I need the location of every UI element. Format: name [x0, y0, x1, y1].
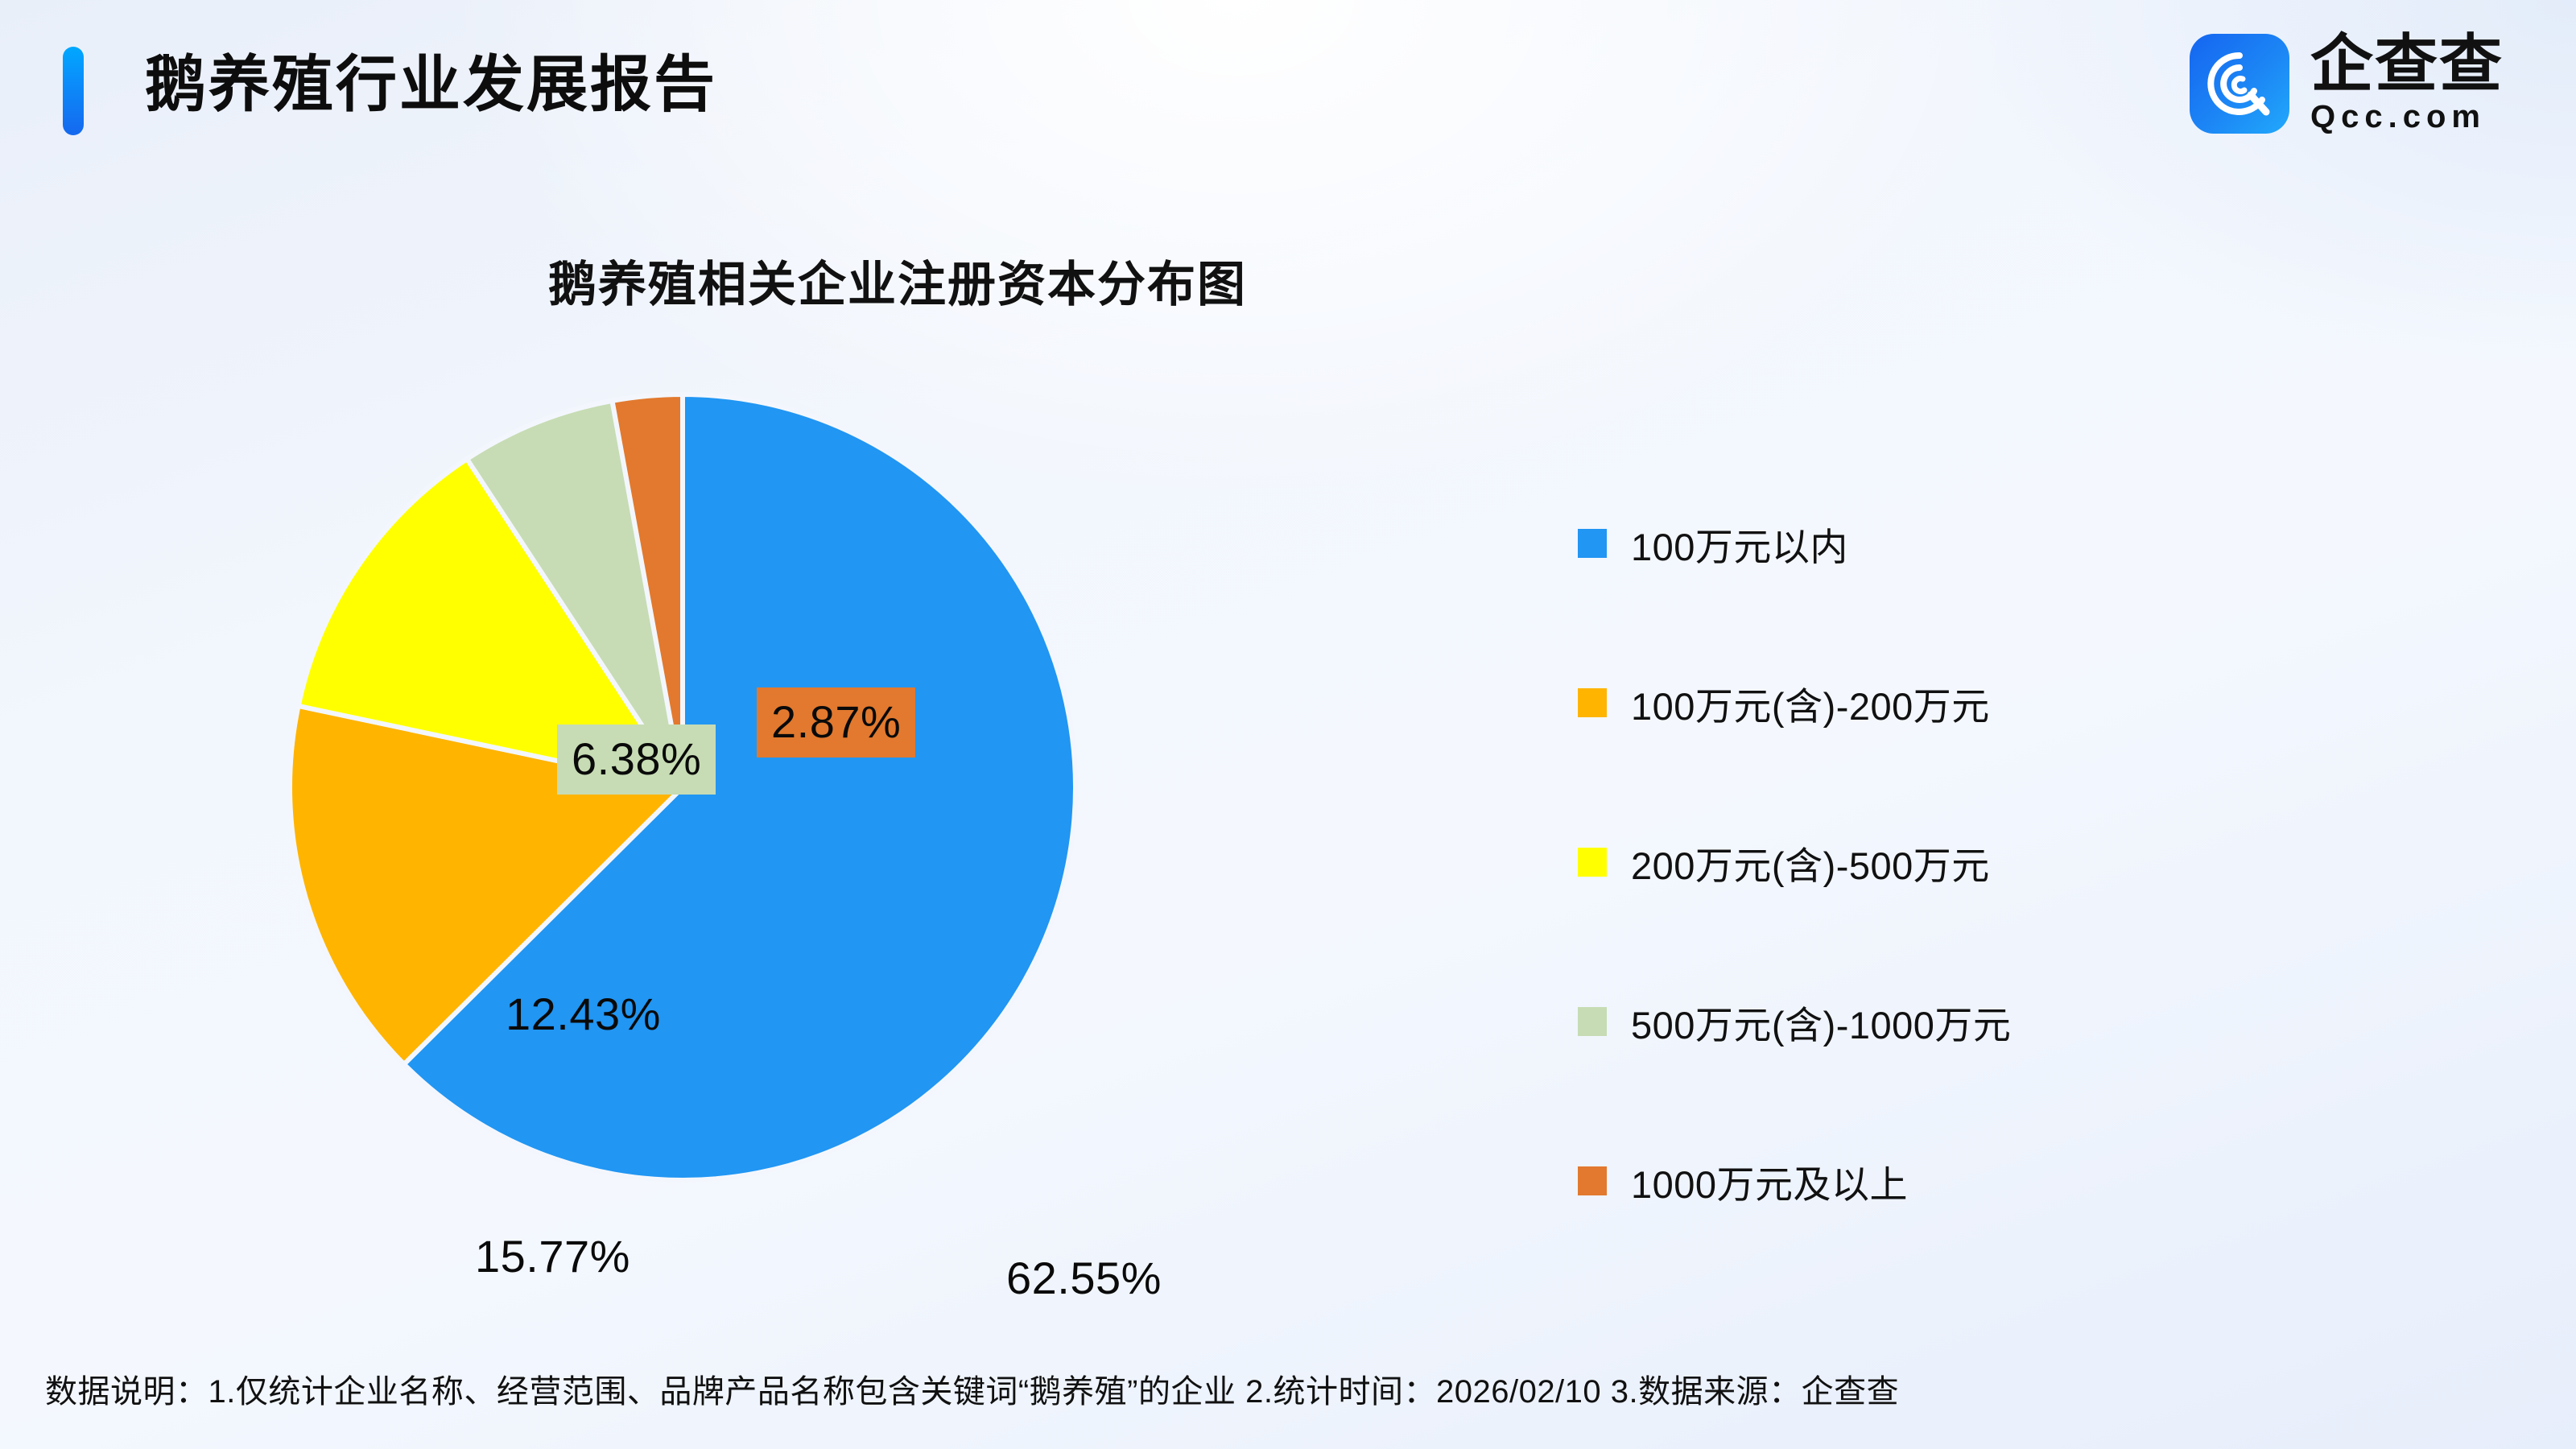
- page-header: 鹅养殖行业发展报告 企查查 Qcc.com: [0, 0, 2576, 177]
- qcc-spiral-q-icon: [2190, 34, 2289, 134]
- legend-swatch-icon: [1578, 529, 1607, 558]
- legend-item[interactable]: 100万元以内: [1578, 503, 2302, 584]
- slice-value-label-200-500w: 12.43%: [506, 988, 661, 1040]
- legend-item-label: 100万元以内: [1631, 516, 1848, 572]
- brand-name-cn: 企查查: [2310, 34, 2504, 95]
- chart-title: 鹅养殖相关企业注册资本分布图: [0, 246, 1795, 316]
- legend-item-label: 200万元(含)-500万元: [1631, 835, 1990, 890]
- legend-item-label: 500万元(含)-1000万元: [1631, 994, 2011, 1050]
- legend-item-label: 1000万元及以上: [1631, 1154, 1908, 1209]
- legend-item[interactable]: 100万元(含)-200万元: [1578, 663, 2302, 743]
- slice-value-label-100-200w: 15.77%: [475, 1230, 630, 1282]
- pie-chart: 62.55% 15.77% 12.43% 6.38% 2.87%: [0, 322, 1795, 1288]
- slice-value-label-100w-inner: 62.55%: [1006, 1252, 1162, 1304]
- slice-value-label-500-1000w: 6.38%: [557, 724, 716, 795]
- report-page: 鹅养殖行业发展报告 企查查 Qcc.com 鹅养殖相关企业注册资本分布图: [0, 0, 2576, 1449]
- legend-item[interactable]: 500万元(含)-1000万元: [1578, 981, 2302, 1062]
- legend-item[interactable]: 200万元(含)-500万元: [1578, 822, 2302, 902]
- legend-swatch-icon: [1578, 1007, 1607, 1036]
- brand-wordmark: 企查查 Qcc.com: [2310, 34, 2504, 134]
- brand-name-en: Qcc.com: [2310, 100, 2504, 134]
- page-title: 鹅养殖行业发展报告: [145, 37, 717, 134]
- legend-item-label: 100万元(含)-200万元: [1631, 675, 1990, 731]
- brand-logo: 企查查 Qcc.com: [2190, 34, 2504, 134]
- legend-swatch-icon: [1578, 848, 1607, 877]
- title-accent-bar: [63, 47, 84, 135]
- footer-note: 数据说明：1.仅统计企业名称、经营范围、品牌产品名称包含关键词“鹅养殖”的企业 …: [45, 1365, 1899, 1412]
- legend-item[interactable]: 1000万元及以上: [1578, 1141, 2302, 1221]
- chart-legend: 100万元以内100万元(含)-200万元200万元(含)-500万元500万元…: [1578, 503, 2302, 1221]
- slice-value-label-1000w-up: 2.87%: [757, 687, 915, 758]
- legend-swatch-icon: [1578, 1166, 1607, 1195]
- legend-swatch-icon: [1578, 688, 1607, 717]
